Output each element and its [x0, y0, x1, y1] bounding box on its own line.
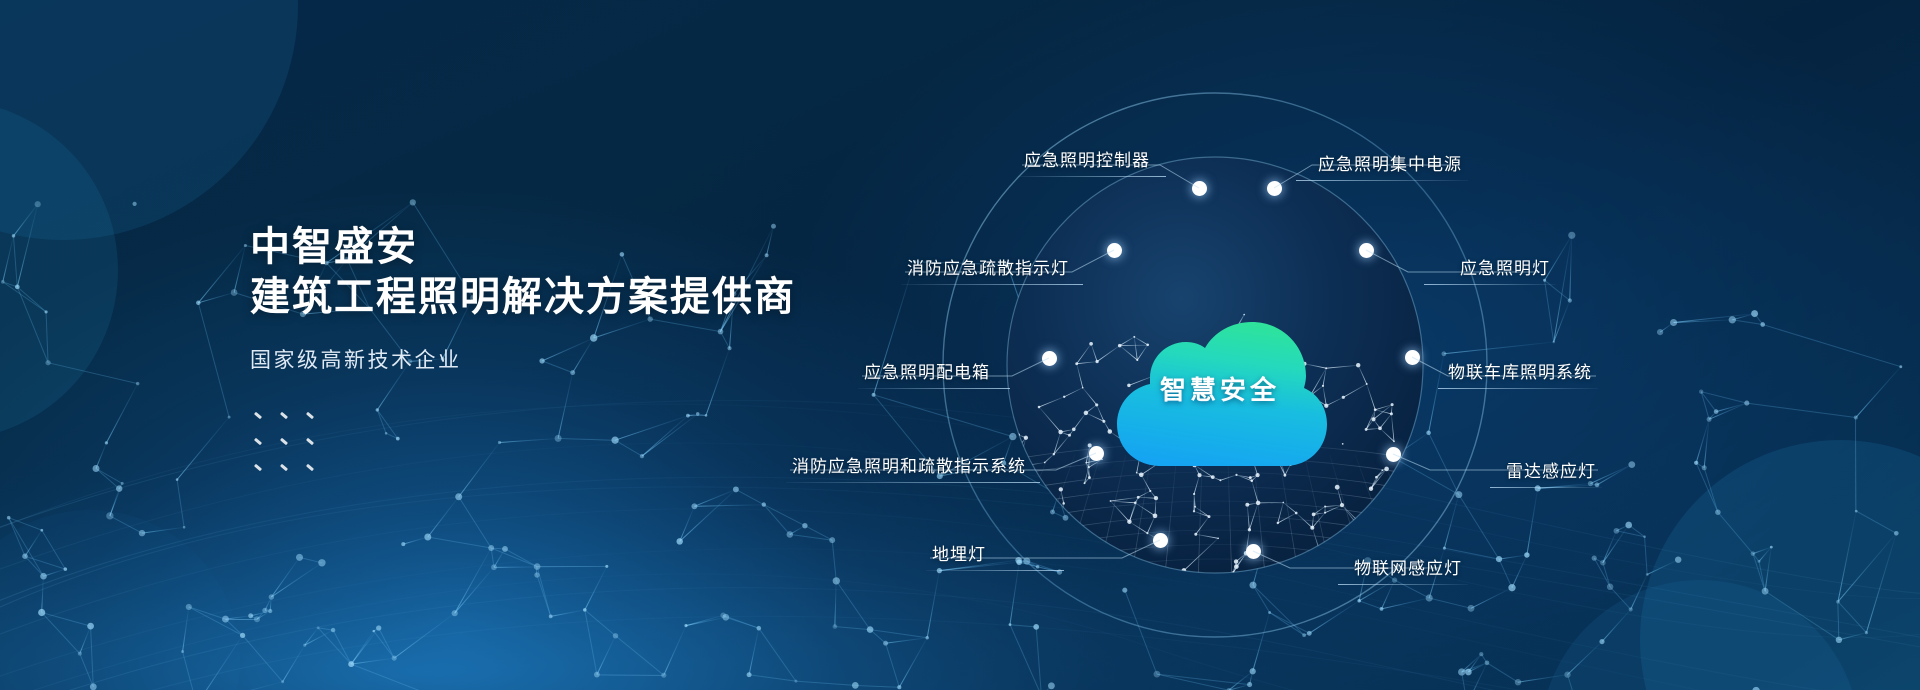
label-text-iot-garage-lighting-system: 物联车库照明系统	[1438, 358, 1598, 388]
decorative-slash	[254, 464, 262, 471]
label-underline	[1018, 176, 1166, 177]
hero-banner: 中智盛安 建筑工程照明解决方案提供商 国家级高新技术企业	[0, 0, 1920, 690]
ring-node-iot-garage-lighting-system[interactable]	[1405, 350, 1420, 365]
label-iot-garage-lighting-system[interactable]: 物联车库照明系统	[1438, 358, 1598, 389]
decorative-dot-grid	[254, 414, 320, 476]
label-underline	[1490, 487, 1602, 488]
label-emergency-lighting-central-power[interactable]: 应急照明集中电源	[1296, 150, 1468, 181]
label-buried-ground-light[interactable]: 地埋灯	[926, 540, 1064, 571]
label-underline	[901, 284, 1083, 285]
label-underline	[858, 388, 1010, 389]
label-underline	[1438, 388, 1598, 389]
label-text-emergency-lighting-lamp: 应急照明灯	[1424, 254, 1556, 284]
decorative-slash	[306, 412, 314, 419]
decorative-circle-top-left-a	[0, 0, 298, 240]
ring-node-emergency-lighting-distribution-box[interactable]	[1042, 351, 1057, 366]
label-underline	[786, 482, 1040, 483]
decorative-circle-top-left-b	[0, 100, 118, 440]
decorative-circle-bottom-left	[0, 510, 240, 690]
decorative-slash	[306, 464, 314, 471]
label-emergency-lighting-controller[interactable]: 应急照明控制器	[1018, 146, 1166, 177]
label-underline	[1338, 584, 1468, 585]
label-text-fire-emergency-evacuation-sign: 消防应急疏散指示灯	[901, 254, 1083, 284]
label-underline	[926, 570, 1064, 571]
headline-line-2: 建筑工程照明解决方案提供商	[250, 272, 890, 322]
label-emergency-lighting-lamp[interactable]: 应急照明灯	[1424, 254, 1556, 285]
ring-node-fire-emergency-evacuation-sign[interactable]	[1107, 243, 1122, 258]
decorative-circle-bottom-right-a	[1640, 440, 1920, 690]
decorative-slash	[306, 438, 314, 445]
ring-node-iot-sensor-light[interactable]	[1246, 544, 1261, 559]
ring-node-buried-ground-light[interactable]	[1153, 533, 1168, 548]
label-underline	[1296, 180, 1468, 181]
label-fire-emergency-evacuation-system[interactable]: 消防应急照明和疏散指示系统	[786, 452, 1040, 483]
label-text-emergency-lighting-controller: 应急照明控制器	[1018, 146, 1166, 176]
label-emergency-lighting-distribution-box[interactable]: 应急照明配电箱	[858, 358, 1010, 389]
headline-subtitle: 国家级高新技术企业	[250, 344, 890, 374]
label-text-fire-emergency-evacuation-system: 消防应急照明和疏散指示系统	[786, 452, 1040, 482]
decorative-slash	[254, 412, 262, 419]
ring-node-emergency-lighting-lamp[interactable]	[1359, 243, 1374, 258]
decorative-slash	[280, 412, 288, 419]
label-text-emergency-lighting-distribution-box: 应急照明配电箱	[858, 358, 1010, 388]
label-iot-sensor-light[interactable]: 物联网感应灯	[1338, 554, 1468, 585]
ring-node-emergency-lighting-central-power[interactable]	[1267, 181, 1282, 196]
ring-node-radar-sensor-light[interactable]	[1386, 447, 1401, 462]
label-radar-sensor-light[interactable]: 雷达感应灯	[1490, 457, 1602, 488]
cloud-label: 智慧安全	[1105, 370, 1335, 407]
ring-node-emergency-lighting-controller[interactable]	[1192, 181, 1207, 196]
label-underline	[1424, 284, 1556, 285]
decorative-slash	[280, 438, 288, 445]
label-text-radar-sensor-light: 雷达感应灯	[1490, 457, 1602, 487]
headline-line-1: 中智盛安	[250, 222, 890, 272]
decorative-slash	[254, 438, 262, 445]
label-fire-emergency-evacuation-sign[interactable]: 消防应急疏散指示灯	[901, 254, 1083, 285]
label-text-buried-ground-light: 地埋灯	[926, 540, 1064, 570]
decorative-slash	[280, 464, 288, 471]
headline-block: 中智盛安 建筑工程照明解决方案提供商 国家级高新技术企业	[250, 222, 890, 374]
decorative-circle-bottom-right-b	[1540, 580, 1860, 690]
label-text-emergency-lighting-central-power: 应急照明集中电源	[1296, 150, 1468, 180]
ring-node-fire-emergency-evacuation-system[interactable]	[1089, 446, 1104, 461]
label-text-iot-sensor-light: 物联网感应灯	[1338, 554, 1468, 584]
